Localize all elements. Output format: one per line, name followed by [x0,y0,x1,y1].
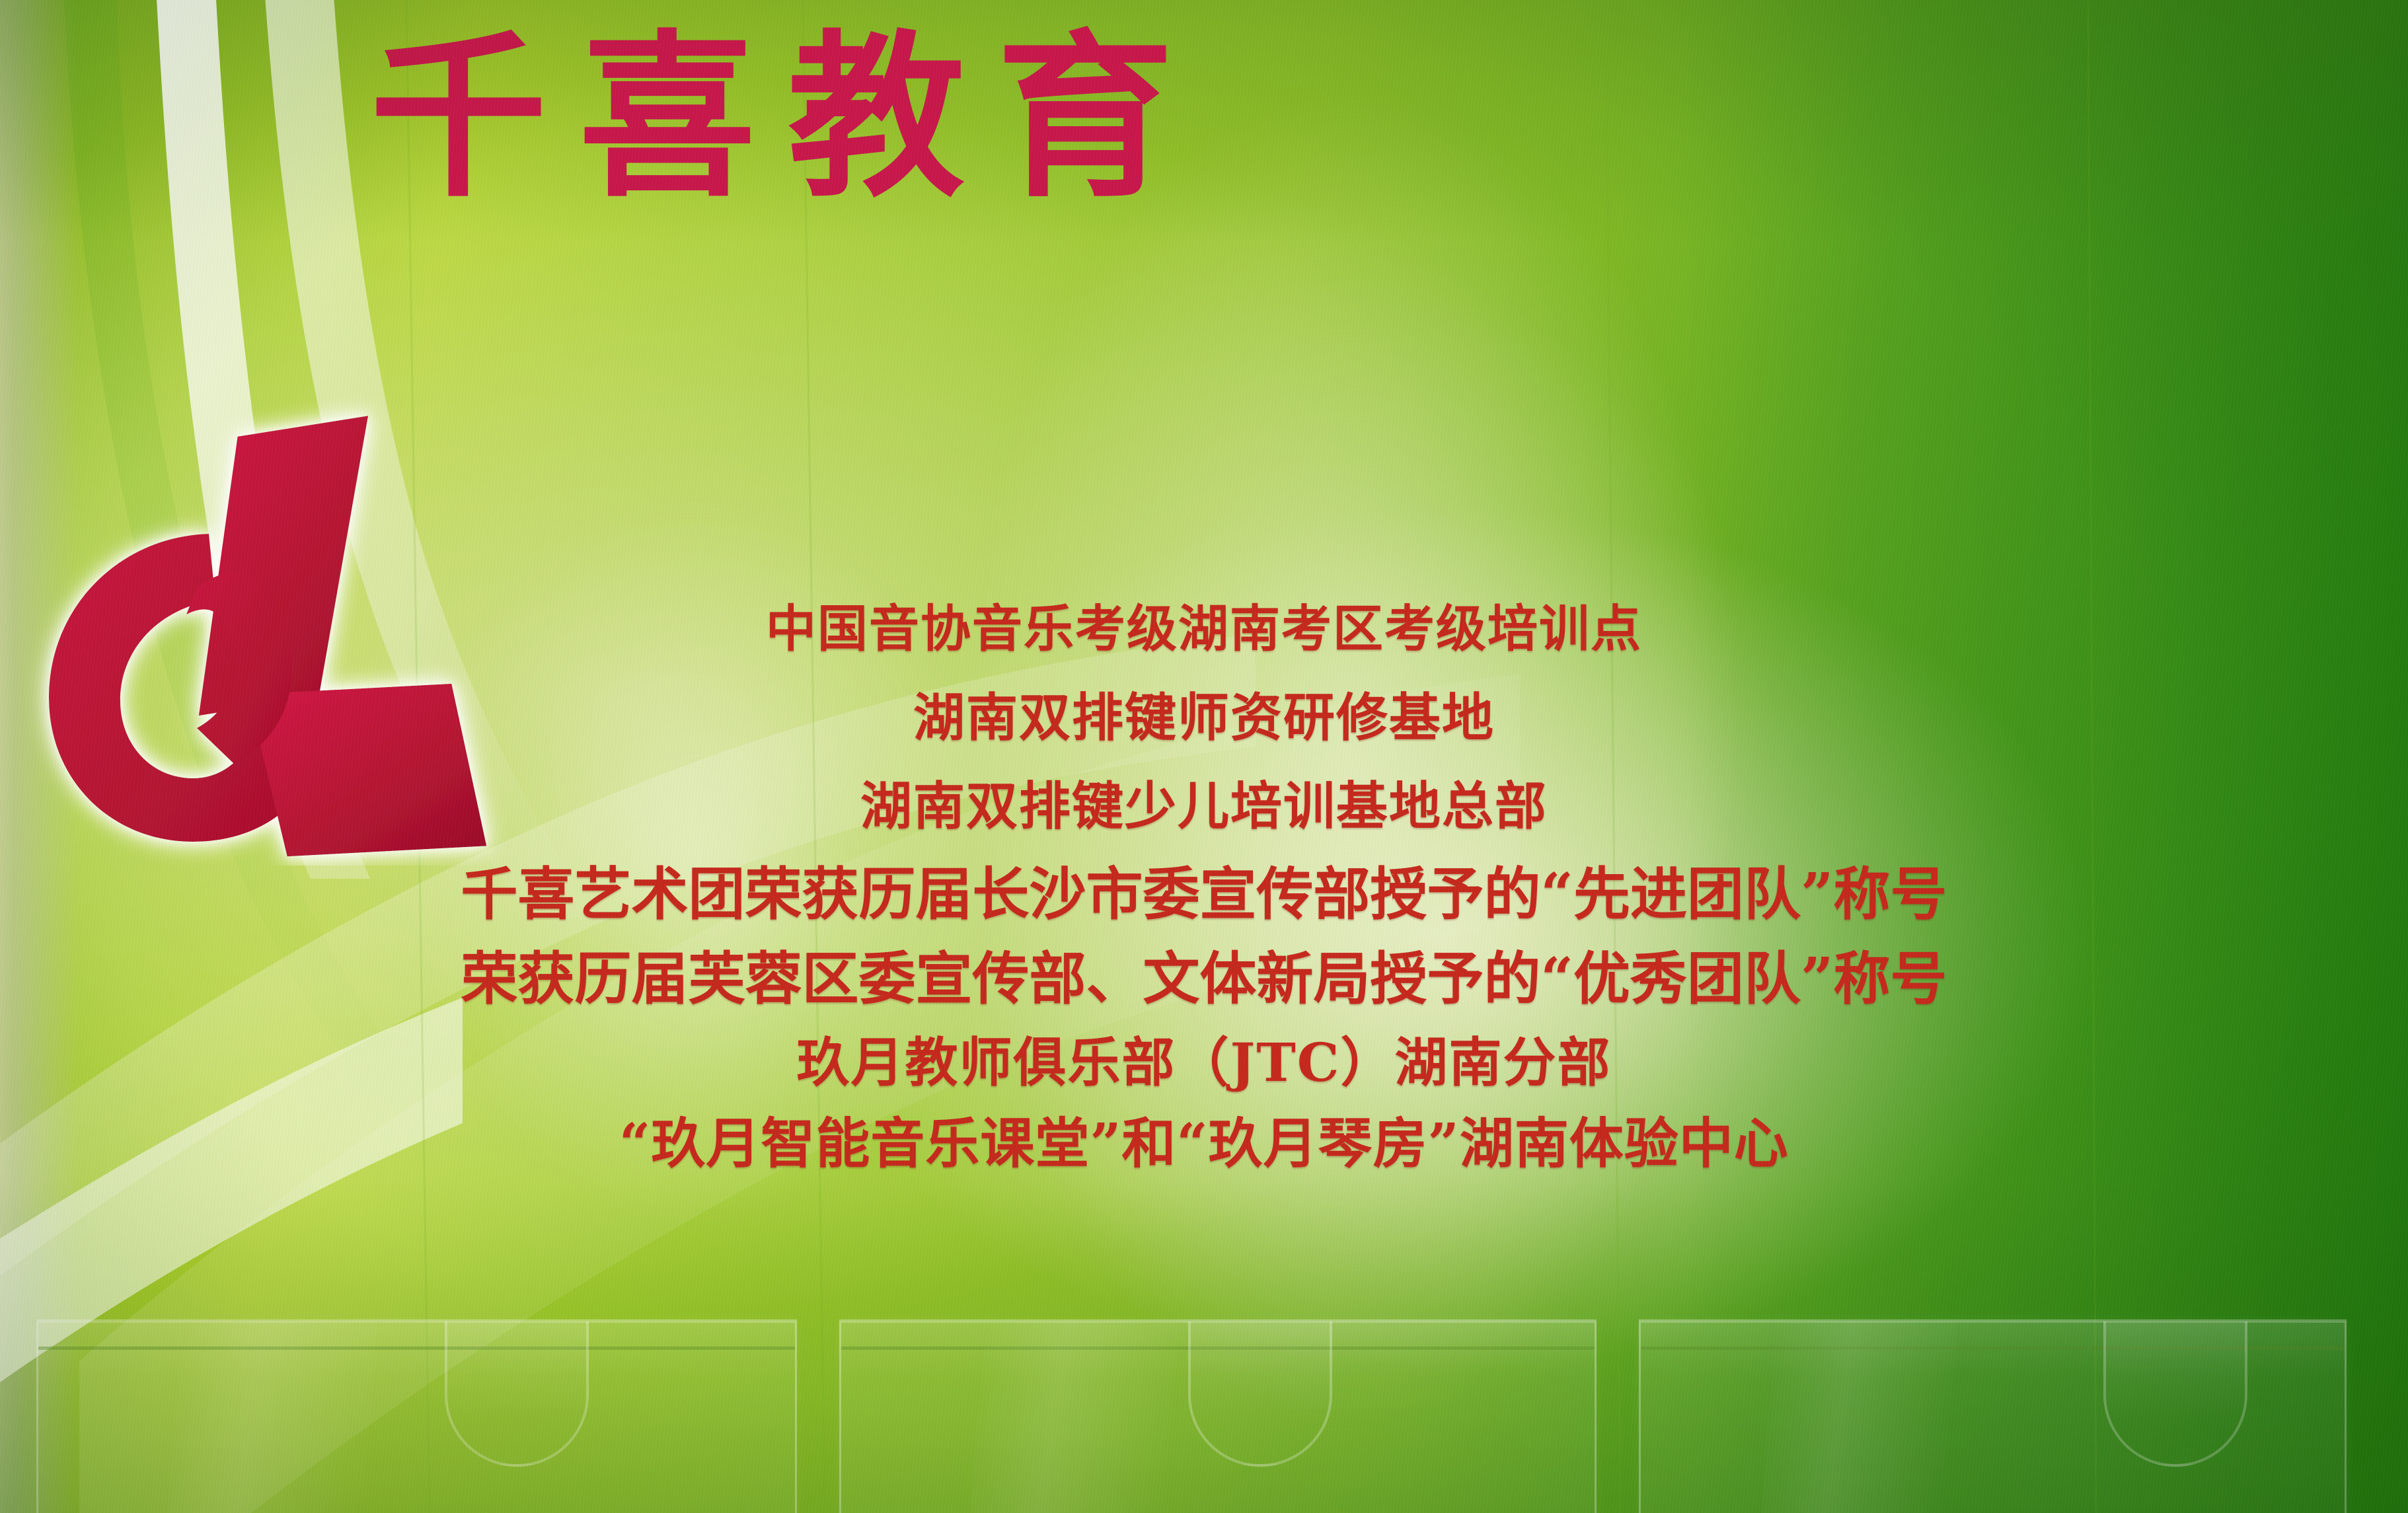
credential-line-7: “玖月智能音乐课堂”和“玖月琴房”湖南体验中心 [0,1107,2408,1180]
holder-sheen [1760,1321,1957,1513]
holder-notch [445,1319,589,1467]
credential-line-6: 玖月教师俱乐部（JTC）湖南分部 [0,1027,2408,1098]
brochure-holder-right[interactable] [1639,1319,2347,1513]
credential-line-5: 荣获历届芙蓉区委宣传部、文体新局授予的“优秀团队”称号 [0,942,2408,1016]
brochure-holder-center[interactable] [839,1319,1597,1513]
credential-line-1: 中国音协音乐考级湖南考区考级培训点 [0,595,2408,663]
holder-notch [1188,1319,1332,1467]
holder-notch [2103,1319,2247,1467]
holder-sheen [970,1321,1180,1513]
signboard-photo: 千喜教育 中国音协音乐考级湖南考区考级培训点 湖南双排键师资研修基地 湖南双排键… [0,0,2408,1513]
holder-lip [38,1347,795,1350]
credential-line-2: 湖南双排键师资研修基地 [0,683,2408,753]
credential-line-3: 湖南双排键少儿培训基地总部 [0,772,2408,842]
brochure-holder-left[interactable] [36,1319,797,1513]
credential-line-4: 千喜艺术团荣获历届长沙市委宣传部授予的“先进团队”称号 [0,858,2408,932]
holder-sheen [168,1321,379,1513]
page-title: 千喜教育 [370,18,2062,217]
credential-list: 中国音协音乐考级湖南考区考级培训点 湖南双排键师资研修基地 湖南双排键少儿培训基… [0,595,2408,1180]
